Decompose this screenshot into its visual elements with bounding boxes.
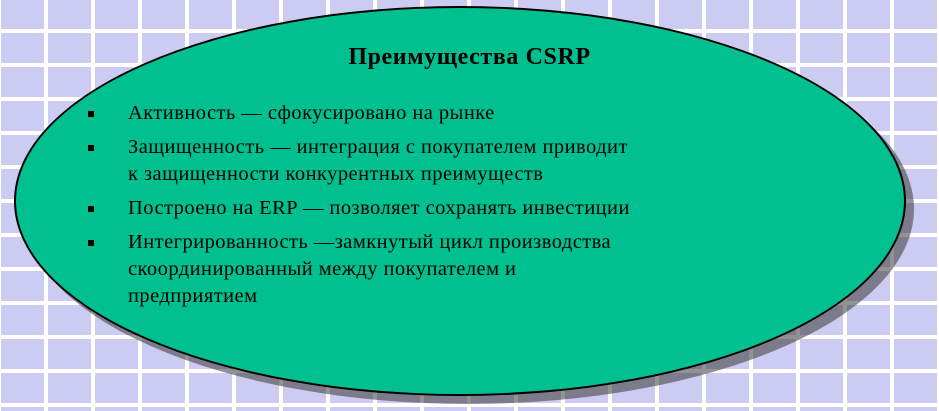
slide-content: Преимущества CSRP Активность — сфокусиро… [0,0,939,411]
list-item-label: Построено на ERP — позволяет сохранять и… [128,195,880,222]
square-bullet-icon [88,111,94,117]
list-item: Построено на ERP — позволяет сохранять и… [80,195,880,222]
list-item: Интегрированность —замкнутый цикл произв… [80,229,880,310]
list-item-label: Защищенность — интеграция с покупателем … [128,134,880,188]
slide-canvas: Преимущества CSRP Активность — сфокусиро… [0,0,939,411]
square-bullet-icon [88,240,94,246]
list-item-label: Интегрированность —замкнутый цикл произв… [128,229,880,310]
list-item: Активность — сфокусировано на рынке [80,100,880,127]
list-item-label: Активность — сфокусировано на рынке [128,100,880,127]
square-bullet-icon [88,206,94,212]
bullet-list: Активность — сфокусировано на рынке Защи… [80,100,880,317]
slide-title: Преимущества CSRP [0,45,939,69]
list-item: Защищенность — интеграция с покупателем … [80,134,880,188]
square-bullet-icon [88,145,94,151]
